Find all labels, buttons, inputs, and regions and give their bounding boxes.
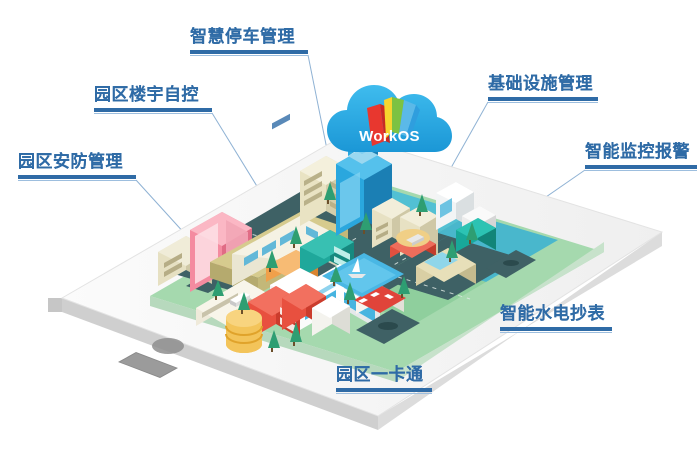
home-button-icon bbox=[152, 338, 184, 354]
callout-smart-parking[interactable]: 智慧停车管理 bbox=[190, 27, 308, 56]
callout-underline-thin bbox=[18, 180, 136, 181]
infographic-root: WorkOS 园区安防管理 园区楼宇自控 智慧停车管理 基础设施管理 智能监控报… bbox=[0, 0, 700, 450]
callout-underline bbox=[585, 165, 697, 169]
callout-one-card-label: 园区一卡通 bbox=[336, 365, 432, 385]
callout-underline bbox=[190, 50, 308, 54]
callout-park-security-label: 园区安防管理 bbox=[18, 152, 136, 172]
callout-underline-thin bbox=[94, 113, 212, 114]
callout-infrastructure[interactable]: 基础设施管理 bbox=[488, 74, 598, 103]
callout-infrastructure-label: 基础设施管理 bbox=[488, 74, 598, 94]
callout-underline bbox=[500, 327, 612, 331]
callout-underline bbox=[488, 97, 598, 101]
callout-video-alarm[interactable]: 智能监控报警 bbox=[585, 142, 697, 171]
callout-smart-parking-label: 智慧停车管理 bbox=[190, 27, 308, 47]
callout-utility-metering[interactable]: 智能水电抄表 bbox=[500, 304, 612, 333]
callout-underline bbox=[336, 388, 432, 392]
callout-building-automation-label: 园区楼宇自控 bbox=[94, 85, 212, 105]
brand-name: WorkOS bbox=[327, 128, 452, 145]
callout-one-card[interactable]: 园区一卡通 bbox=[336, 365, 432, 394]
callout-underline-thin bbox=[488, 102, 598, 103]
callout-underline bbox=[94, 108, 212, 112]
callout-video-alarm-label: 智能监控报警 bbox=[585, 142, 697, 162]
callout-building-automation[interactable]: 园区楼宇自控 bbox=[94, 85, 212, 114]
callout-underline-thin bbox=[500, 332, 612, 333]
callout-underline-thin bbox=[585, 170, 697, 171]
callout-underline-thin bbox=[190, 55, 308, 56]
callout-underline-thin bbox=[336, 393, 432, 394]
building-yellow-round-tower bbox=[226, 309, 262, 353]
callout-underline bbox=[18, 175, 136, 179]
callout-utility-metering-label: 智能水电抄表 bbox=[500, 304, 612, 324]
callout-park-security[interactable]: 园区安防管理 bbox=[18, 152, 136, 181]
